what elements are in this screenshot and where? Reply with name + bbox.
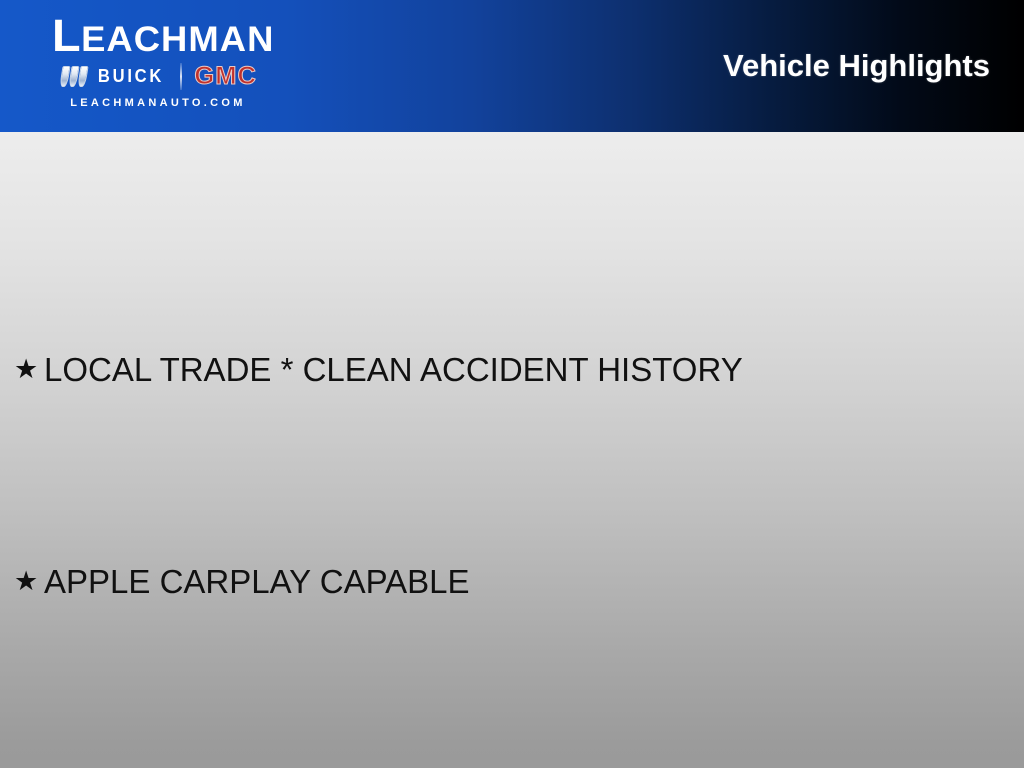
vehicle-highlights-slide: LEACHMAN BUICK GMC LEACHMANAUTO.COM Vehi… — [0, 0, 1024, 768]
list-item: ★ LOCAL TRADE * CLEAN ACCIDENT HISTORY — [0, 348, 1024, 392]
buick-brand-label: BUICK — [98, 66, 164, 87]
page-title: Vehicle Highlights — [723, 48, 990, 84]
shield-part-3 — [78, 66, 89, 87]
header-banner: LEACHMAN BUICK GMC LEACHMANAUTO.COM Vehi… — [0, 0, 1024, 132]
star-bullet-icon: ★ — [14, 356, 44, 383]
wordmark-rest: EACHMAN — [81, 20, 274, 59]
dealer-wordmark: LEACHMAN — [28, 13, 298, 63]
wordmark-initial: L — [52, 10, 81, 61]
star-bullet-icon: ★ — [14, 568, 44, 595]
highlights-panel: ★ LOCAL TRADE * CLEAN ACCIDENT HISTORY ★… — [0, 132, 1024, 768]
gmc-brand-label: GMC — [195, 62, 258, 91]
brand-lockup-row: BUICK GMC — [30, 61, 288, 91]
highlight-text: LOCAL TRADE * CLEAN ACCIDENT HISTORY — [44, 350, 743, 390]
dealer-logo[interactable]: LEACHMAN BUICK GMC LEACHMANAUTO.COM — [28, 13, 288, 121]
list-item: ★ APPLE CARPLAY CAPABLE — [0, 560, 1024, 604]
brand-divider — [180, 63, 182, 90]
highlight-text: APPLE CARPLAY CAPABLE — [44, 562, 470, 602]
dealer-website-url[interactable]: LEACHMANAUTO.COM — [28, 97, 288, 109]
buick-tri-shield-icon — [60, 65, 89, 87]
